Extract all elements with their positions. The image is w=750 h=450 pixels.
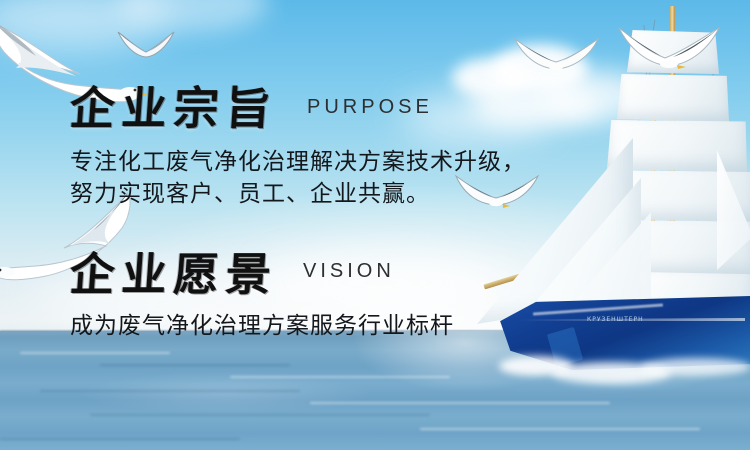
seagull-icon (453, 170, 541, 216)
wave-line (40, 390, 300, 392)
bow-foam (641, 358, 750, 376)
seagull-icon (512, 34, 602, 82)
purpose-line-1: 专注化工废气净化治理解决方案技术升级， (70, 142, 526, 176)
wave-line (100, 364, 290, 366)
seagull-icon (615, 22, 725, 84)
purpose-heading-en: PURPOSE (307, 96, 433, 119)
vision-heading-cn: 企业愿景 (68, 238, 281, 303)
purpose-heading-cn: 企业宗旨 (68, 72, 281, 137)
hull-name-text: КРУЗЕНШТЕРН (587, 316, 671, 323)
vision-line-1: 成为废气净化治理方案服务行业标杆 (70, 306, 454, 340)
seagull-icon (115, 28, 177, 66)
wave-line (0, 438, 240, 440)
wave-line (230, 376, 450, 378)
wave-line (90, 414, 430, 416)
wave-line (20, 352, 170, 354)
corporate-culture-banner: КРУЗЕНШТЕРН (0, 0, 750, 450)
vision-heading-en: VISION (303, 260, 395, 283)
purpose-line-2: 努力实现客户、员工、企业共赢。 (70, 174, 430, 208)
